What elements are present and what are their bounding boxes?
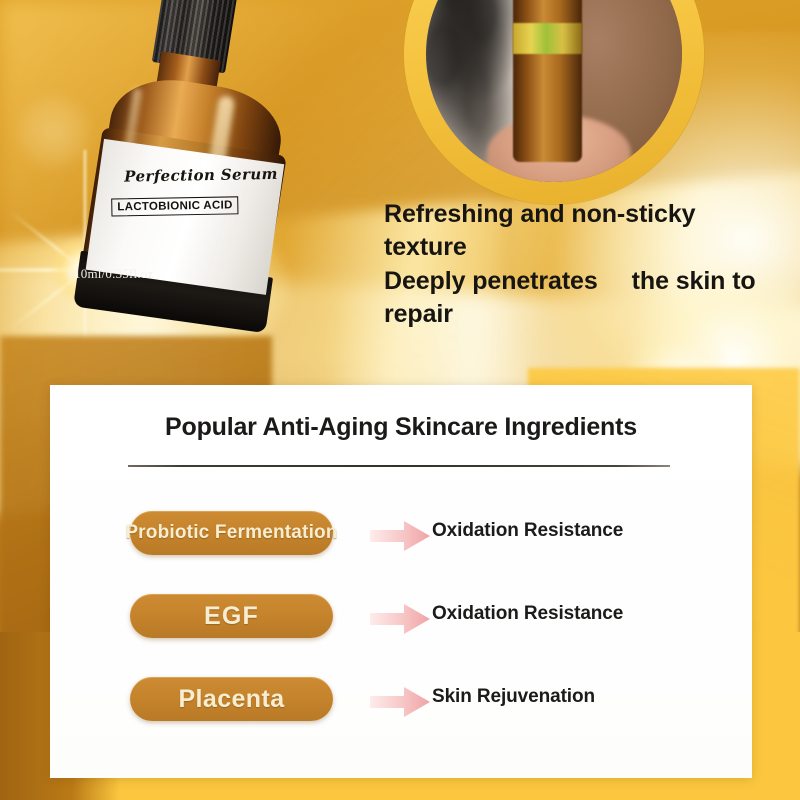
headline-line-1: Refreshing and non-sticky texture: [384, 198, 784, 265]
ingredient-pill[interactable]: Probiotic Fermentation: [130, 511, 333, 555]
right-arrow-icon: [368, 602, 432, 636]
headline-line-3: repair: [384, 298, 784, 331]
ingredient-pill[interactable]: Placenta: [130, 677, 333, 721]
ingredient-pill-label: Placenta: [178, 685, 284, 714]
headline-line-2-b: the skin to: [632, 267, 756, 295]
ingredient-pill-label: Probiotic Fermentation: [125, 522, 337, 544]
headline-text: Refreshing and non-sticky texture Deeply…: [384, 198, 784, 331]
ingredient-rows: Probiotic Fermentation Oxidation Resista…: [50, 503, 752, 752]
benefit-label: Oxidation Resistance: [432, 603, 623, 625]
right-arrow-icon: [368, 685, 432, 719]
ingredient-pill-label: EGF: [204, 602, 259, 631]
bottle-label-ingredient: LACTOBIONIC ACID: [111, 196, 239, 216]
title-divider: [128, 465, 670, 467]
bottle-label-script-name: Perfection Serum: [118, 165, 278, 186]
ingredient-row: Probiotic Fermentation Oxidation Resista…: [50, 503, 752, 586]
benefit-label: Oxidation Resistance: [432, 520, 623, 542]
inset-photo-content: [426, 0, 682, 182]
ingredients-card: Popular Anti-Aging Skincare Ingredients …: [50, 385, 752, 778]
card-title: Popular Anti-Aging Skincare Ingredients: [50, 413, 752, 442]
ingredient-row: EGF Oxidation Resistance: [50, 586, 752, 669]
ingredient-row: Placenta Skin Rejuvenation: [50, 669, 752, 752]
inset-bottle-label-band: [513, 23, 582, 54]
bottle-label-volume: e10ml/0.35fl.oz: [68, 266, 153, 282]
right-arrow-icon: [368, 519, 432, 553]
ingredient-pill[interactable]: EGF: [130, 594, 333, 638]
product-marketing-image: Perfection Serum LACTOBIONIC ACID e10ml/…: [0, 0, 800, 800]
headline-line-2: Deeply penetratesthe skin to: [384, 265, 784, 298]
serum-bottle: Perfection Serum LACTOBIONIC ACID e10ml/…: [36, 0, 359, 335]
benefit-label: Skin Rejuvenation: [432, 686, 595, 708]
headline-line-2-a: Deeply penetrates: [384, 267, 598, 295]
